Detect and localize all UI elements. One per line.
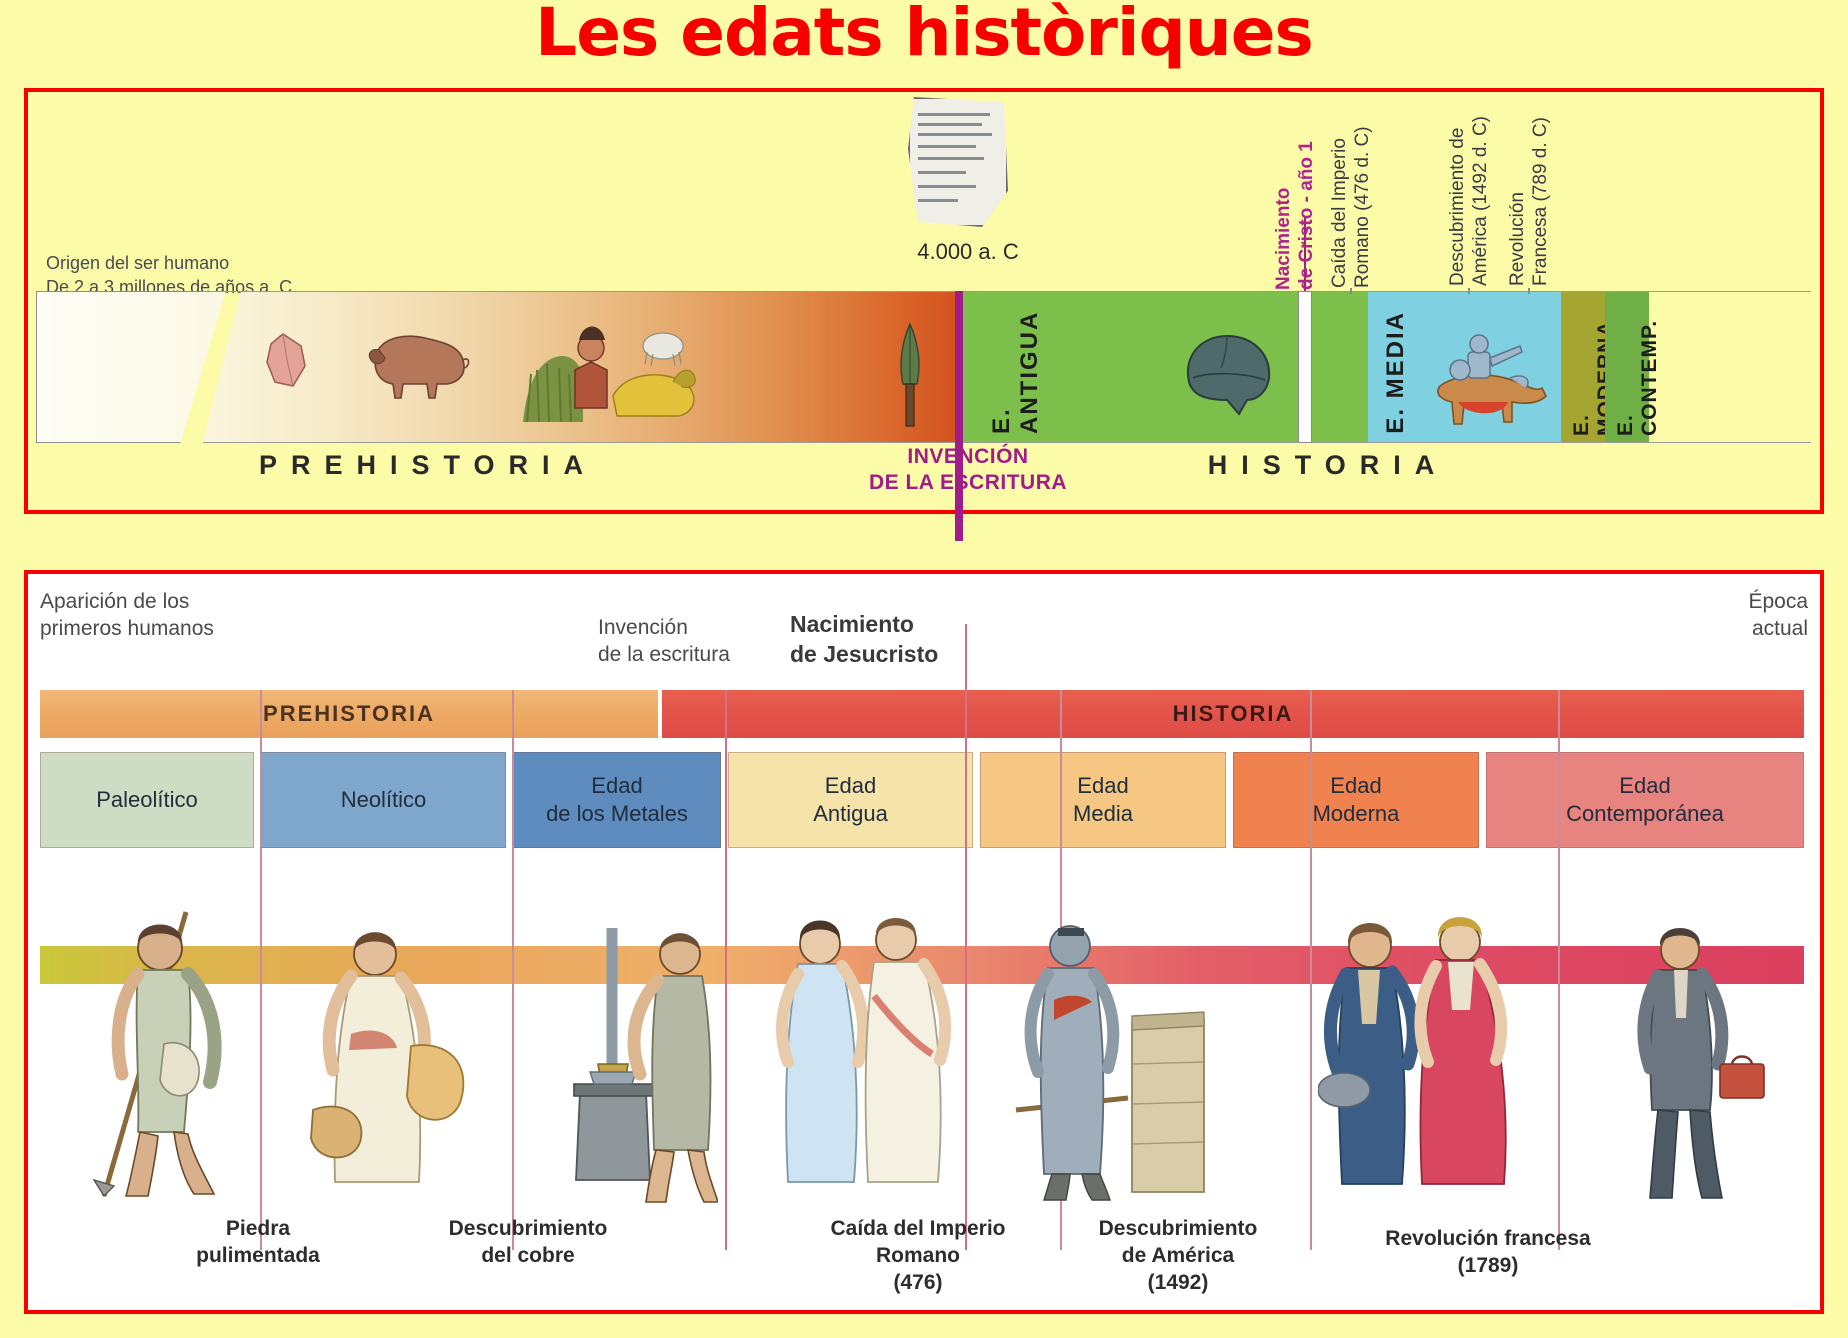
era-box-edad-antigua: EdadAntigua <box>728 752 973 848</box>
timeline-panel-2: Aparición de los primeros humanos Época … <box>24 570 1824 1314</box>
bottom-label-french-revolution: Revolución francesa (1789) <box>1338 1226 1638 1280</box>
era-caption-prehistoria: PREHISTORIA <box>138 450 718 481</box>
vertical-label-french-revolution: Revolución Francesa (789 d. C) <box>1506 86 1552 286</box>
birth-of-jesus-label: Nacimiento de Jesucristo <box>790 610 938 670</box>
neolithic-village-icon <box>513 312 703 424</box>
era-box-label-line: Edad <box>1330 772 1381 800</box>
vertical-label-birth-of-christ: Nacimiento de Cristo - año 1 <box>1272 110 1318 290</box>
first-humans-label: Aparición de los primeros humanos <box>40 588 214 643</box>
bottom-label-copper-discovery: Descubrimiento del cobre <box>408 1216 648 1270</box>
vertical-label-discovery-america: Descubrimiento de América (1492 d. C) <box>1446 86 1492 286</box>
era-box-edad-media: EdadMedia <box>980 752 1226 848</box>
era-box-label-line: Edad <box>591 772 642 800</box>
bottom-label-polished-stone: Piedra pulimentada <box>158 1216 358 1270</box>
era-caption-historia: HISTORIA <box>1068 450 1588 481</box>
era-box-label-line: Contemporánea <box>1566 800 1724 828</box>
bison-icon <box>363 330 473 402</box>
era-box-edad-moderna: EdadModerna <box>1233 752 1479 848</box>
writing-invention-date: 4.000 a. C <box>888 239 1048 265</box>
modern-couple-icon <box>1318 904 1528 1204</box>
divider-birth-of-jesus <box>965 624 967 1250</box>
band-historia: HISTORIA <box>662 690 1804 738</box>
paleolithic-hunter-icon <box>68 904 264 1204</box>
tick-fall-roman-empire <box>1350 288 1352 294</box>
writing-invention-marker <box>955 291 963 541</box>
metal-smith-icon <box>528 914 718 1204</box>
era-box-label-line: Edad <box>1619 772 1670 800</box>
era-box-label-line: Neolítico <box>341 786 427 814</box>
segment-edad-moderna: E. MODERNA <box>1561 292 1605 442</box>
era-label-antigua: E. ANTIGUA <box>988 292 1044 434</box>
era-box-neol-tico: Neolítico <box>261 752 506 848</box>
era-box-label-line: de los Metales <box>546 800 688 828</box>
era-boxes-row: PaleolíticoNeolíticoEdadde los MetalesEd… <box>40 752 1804 848</box>
writing-invention-label-2: Invención de la escritura <box>598 614 730 669</box>
roman-helmet-icon <box>1173 328 1279 418</box>
tick-french-revolution <box>1528 288 1530 294</box>
era-box-label-line: Media <box>1073 800 1133 828</box>
writing-invention-caption: INVENCIÓN DE LA ESCRITURA <box>828 444 1108 497</box>
era-box-edad-contempor-nea: EdadContemporánea <box>1486 752 1804 848</box>
era-label-media: E. MEDIA <box>1382 311 1410 434</box>
era-box-label-line: Edad <box>1077 772 1128 800</box>
timeline-bar: E. ANTIGUA E. MEDIA <box>203 291 1811 443</box>
cuneiform-tablet-icon <box>908 97 1008 227</box>
medieval-knight-icon <box>1008 904 1208 1204</box>
band-prehistoria: PREHISTORIA <box>40 690 658 738</box>
current-epoch-label: Época actual <box>1748 588 1808 643</box>
era-box-label-line: Antigua <box>813 800 888 828</box>
divider-writing-invention <box>725 690 727 1250</box>
vertical-label-fall-roman-empire: Caída del Imperio Romano (476 d. C) <box>1328 88 1374 288</box>
era-label-contemp: E. CONTEMP. <box>1614 292 1662 436</box>
birth-of-christ-marker <box>1298 291 1312 443</box>
stone-tool-icon <box>263 332 309 390</box>
divider-neolitico-metales <box>512 690 514 1250</box>
divider-media-moderna <box>1310 690 1312 1250</box>
knight-on-horse-icon <box>1416 326 1552 438</box>
bottom-label-discovery-america: Descubrimiento de América (1492) <box>1058 1216 1298 1297</box>
page-title: Les edats històriques <box>0 0 1848 71</box>
prehistory-start-wedge <box>36 291 226 443</box>
era-box-label-line: Edad <box>825 772 876 800</box>
segment-edad-media: E. MEDIA <box>1368 292 1561 442</box>
roman-citizens-icon <box>768 904 958 1204</box>
bottom-label-fall-roman-empire: Caída del Imperio Romano (476) <box>798 1216 1038 1297</box>
divider-moderna-contemporanea <box>1558 690 1560 1250</box>
spear-point-icon <box>893 322 927 427</box>
era-box-label-line: Moderna <box>1313 800 1400 828</box>
era-box-edad-de-los-metales: Edadde los Metales <box>513 752 721 848</box>
era-box-paleol-tico: Paleolítico <box>40 752 254 848</box>
era-box-label-line: Paleolítico <box>96 786 198 814</box>
segment-prehistoria <box>203 292 958 442</box>
neolithic-woman-icon <box>293 914 483 1204</box>
segment-edad-contemporanea: E. CONTEMP. <box>1605 292 1649 442</box>
tick-discovery-america <box>1468 288 1470 294</box>
contemporary-man-icon <box>1608 914 1788 1204</box>
timeline-panel-1: Origen del ser humano De 2 a 3 millones … <box>24 88 1824 514</box>
